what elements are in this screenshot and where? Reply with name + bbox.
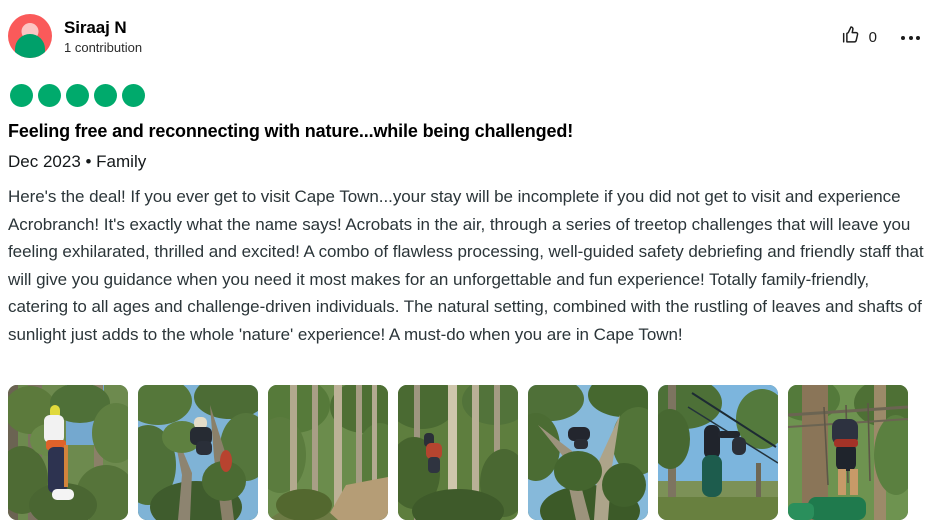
review-photo-thumbnail[interactable] — [398, 385, 518, 520]
rating-bubble-icon — [122, 84, 145, 107]
review-photo-strip — [8, 385, 908, 520]
review-header-actions: 0 — [840, 14, 926, 51]
user-avatar-icon[interactable] — [8, 14, 52, 58]
more-dot — [916, 36, 920, 40]
avatar-body-shape — [15, 34, 45, 58]
review-photo-thumbnail[interactable] — [268, 385, 388, 520]
rating-bubble-icon — [10, 84, 33, 107]
thumbs-up-icon[interactable] — [840, 24, 862, 51]
more-horizontal-icon[interactable] — [899, 32, 922, 44]
rating-bubble-icon — [94, 84, 117, 107]
helpful-button[interactable]: 0 — [840, 24, 877, 51]
rating-bubbles — [0, 68, 938, 107]
review-header: Siraaj N 1 contribution 0 — [0, 0, 938, 68]
review-card: Siraaj N 1 contribution 0 — [0, 0, 938, 520]
review-photo-thumbnail[interactable] — [528, 385, 648, 520]
author-contributions: 1 contribution — [64, 39, 142, 56]
review-photo-thumbnail[interactable] — [788, 385, 908, 520]
author-block[interactable]: Siraaj N 1 contribution — [8, 14, 142, 58]
rating-bubble-icon — [38, 84, 61, 107]
review-body-text: Here's the deal! If you ever get to visi… — [0, 173, 936, 348]
review-photo-thumbnail[interactable] — [8, 385, 128, 520]
more-dot — [909, 36, 913, 40]
author-name[interactable]: Siraaj N — [64, 17, 142, 38]
review-title[interactable]: Feeling free and reconnecting with natur… — [0, 107, 938, 143]
review-photo-thumbnail[interactable] — [138, 385, 258, 520]
more-dot — [901, 36, 905, 40]
rating-bubble-icon — [66, 84, 89, 107]
review-photo-thumbnail[interactable] — [658, 385, 778, 520]
review-date-line: Dec 2023 • Family — [0, 143, 938, 173]
author-text: Siraaj N 1 contribution — [64, 17, 142, 56]
helpful-count: 0 — [869, 30, 877, 45]
